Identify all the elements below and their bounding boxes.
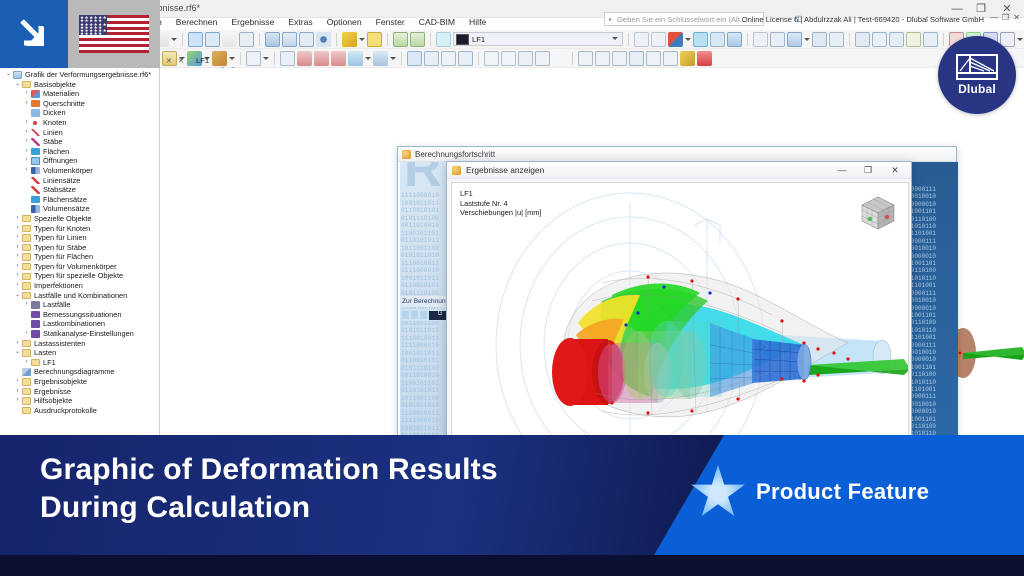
dlubal-bridge-icon bbox=[956, 54, 998, 80]
result-diagram-icon[interactable] bbox=[393, 32, 408, 47]
folder-icon bbox=[22, 263, 31, 271]
tree-item-label: Typen für Knoten bbox=[34, 224, 93, 234]
equal-icon[interactable] bbox=[646, 51, 661, 66]
panel-icon[interactable] bbox=[239, 32, 254, 47]
menu-item-hilfe[interactable]: Hilfe bbox=[462, 16, 493, 28]
folder-icon bbox=[22, 81, 31, 89]
results-legend: LF1 Laststufe Nr. 4 Verschiebungen |u| [… bbox=[460, 189, 541, 218]
lc-icon bbox=[31, 311, 40, 319]
language-flag-badge: ★★★★★★★★★★★★★★★★★★★★★★★★★★★★★★★★★ bbox=[68, 0, 160, 68]
toolbar-separator bbox=[572, 52, 573, 65]
expander-icon[interactable]: › bbox=[13, 243, 22, 253]
results-close-button[interactable]: ✕ bbox=[882, 163, 908, 178]
search-model-icon[interactable] bbox=[872, 32, 887, 47]
folder-icon bbox=[22, 244, 31, 252]
tree-item[interactable]: Stabsätze bbox=[0, 185, 159, 195]
mdi-maximize-button[interactable]: ❐ bbox=[1002, 13, 1009, 22]
expander-icon[interactable]: › bbox=[13, 387, 22, 397]
tree-item[interactable]: ›Hilfsobjekte bbox=[0, 396, 159, 406]
tree-item-label: Lasten bbox=[34, 348, 59, 358]
tree-item[interactable]: ›Lastfälle bbox=[0, 300, 159, 310]
lset-icon bbox=[31, 186, 40, 194]
snap-icon[interactable] bbox=[753, 32, 768, 47]
tree-item-label: Grafik der Verformungsergebnisse.rf6* bbox=[25, 70, 154, 80]
support-surface-icon[interactable] bbox=[331, 51, 346, 66]
folder-icon bbox=[22, 225, 31, 233]
tree-item[interactable]: ›Flächen bbox=[0, 147, 159, 157]
lc-icon bbox=[31, 330, 40, 338]
mdi-close-button[interactable]: ✕ bbox=[1013, 13, 1020, 22]
dlubal-logo: Dlubal bbox=[938, 36, 1016, 114]
tree-item[interactable]: ›Typen für Knoten bbox=[0, 224, 159, 234]
load-case-color-icon bbox=[456, 34, 469, 45]
menu-item-cad-bim[interactable]: CAD-BIM bbox=[412, 16, 462, 28]
tree-item[interactable]: ›Typen für Linien bbox=[0, 233, 159, 243]
bottom-banner: Graphic of Deformation Results During Ca… bbox=[0, 435, 1024, 576]
tree-item[interactable]: ›Spezielle Objekte bbox=[0, 214, 159, 224]
expander-icon[interactable]: › bbox=[13, 377, 22, 387]
banner-bottom-bar bbox=[0, 555, 1024, 576]
loads-dropdown-icon[interactable] bbox=[359, 32, 365, 47]
surface-icon bbox=[31, 148, 40, 156]
tree-item-label: Stabsätze bbox=[43, 185, 79, 195]
expander-icon[interactable]: › bbox=[13, 271, 22, 281]
member-icon bbox=[31, 138, 40, 146]
tree-item-label: Lastassistenten bbox=[34, 339, 88, 349]
angle-measure-icon[interactable] bbox=[663, 51, 678, 66]
tree-item[interactable]: ›Statikanalyse-Einstellungen bbox=[0, 329, 159, 339]
view-cube-icon[interactable] bbox=[854, 191, 898, 233]
toolbar-separator bbox=[182, 33, 183, 46]
expander-icon[interactable]: › bbox=[22, 147, 31, 157]
search-caret-icon: ▸ bbox=[609, 16, 612, 23]
folder-icon bbox=[31, 359, 40, 367]
mirror-icon[interactable] bbox=[441, 51, 456, 66]
tree-item-label: Typen für spezielle Objekte bbox=[34, 271, 126, 281]
tree-item[interactable]: Bemessungssituationen bbox=[0, 310, 159, 320]
array-icon[interactable] bbox=[458, 51, 473, 66]
load-nodal-icon[interactable] bbox=[373, 51, 388, 66]
member-create-icon[interactable] bbox=[212, 51, 227, 66]
axis-all-icon[interactable] bbox=[1000, 32, 1015, 47]
search-placeholder: Geben Sie ein Schlüsselwort ein (Alt... bbox=[617, 15, 746, 24]
expander-icon[interactable]: ⌄ bbox=[13, 291, 22, 301]
load-case-select[interactable]: LF1 bbox=[453, 32, 623, 46]
tree-item[interactable]: ⌄Basisobjekte bbox=[0, 80, 159, 90]
lcase-icon bbox=[31, 301, 40, 309]
tree-item[interactable]: ›Volumenkörper bbox=[0, 166, 159, 176]
loads-icon[interactable] bbox=[342, 32, 357, 47]
toolbar-separator bbox=[401, 52, 402, 65]
next-case-icon[interactable] bbox=[651, 32, 666, 47]
strip-square bbox=[420, 311, 427, 319]
tree-item-label: Spezielle Objekte bbox=[34, 214, 95, 224]
tree-item-label: Ausdruckprotokolle bbox=[34, 406, 100, 416]
render-icon[interactable] bbox=[265, 32, 280, 47]
rotate-icon[interactable] bbox=[693, 32, 708, 47]
tree-item[interactable]: ›Ergebnisse bbox=[0, 387, 159, 397]
node-icon bbox=[33, 121, 37, 125]
edit-icon[interactable] bbox=[906, 32, 921, 47]
marker-icon[interactable] bbox=[697, 51, 712, 66]
table-icon[interactable] bbox=[282, 32, 297, 47]
doc-icon bbox=[13, 71, 22, 79]
toolbar-separator bbox=[478, 52, 479, 65]
tree-item[interactable]: ›Typen für Flächen bbox=[0, 252, 159, 262]
expander-icon[interactable]: › bbox=[22, 156, 31, 166]
prev-case-icon[interactable] bbox=[634, 32, 649, 47]
graphics-workarea[interactable]: Berechnungsfortschritt R 111100001010010… bbox=[160, 68, 1024, 436]
panel-load-case-label: LF1 bbox=[196, 56, 209, 65]
menu-item-berechnen[interactable]: Berechnen bbox=[169, 16, 225, 28]
tree-item[interactable]: ›Linien bbox=[0, 128, 159, 138]
menu-item-extras[interactable]: Extras bbox=[281, 16, 319, 28]
project-navigator[interactable]: RFEM ⌄Grafik der Verformungsergebnisse.r… bbox=[0, 56, 160, 436]
member-dropdown-icon[interactable] bbox=[229, 51, 235, 66]
tree-item-label: Stäbe bbox=[43, 137, 65, 147]
hinge-dropdown-icon[interactable] bbox=[365, 51, 371, 66]
screenshot-root: ...bnisse.rf6* — ❐ ✕ n Berechnen Ergebni… bbox=[0, 0, 1024, 576]
result-section-icon[interactable] bbox=[410, 32, 425, 47]
rfem-letter-mark: R bbox=[404, 166, 442, 174]
tree-item-label: Typen für Volumenkörper bbox=[34, 262, 120, 272]
toolbar-separator bbox=[259, 33, 260, 46]
navigator-icon[interactable] bbox=[316, 32, 331, 47]
calc-dialog-title: Berechnungsfortschritt bbox=[415, 150, 495, 159]
folder-icon bbox=[22, 397, 31, 405]
chevron-down-icon[interactable] bbox=[612, 37, 618, 40]
toolbar-separator bbox=[747, 33, 748, 46]
link-icon[interactable] bbox=[923, 32, 938, 47]
mesh-refine-icon[interactable] bbox=[407, 51, 422, 66]
folder-icon bbox=[22, 253, 31, 261]
tree-item[interactable]: Liniensätze bbox=[0, 176, 159, 186]
toolbar-separator bbox=[240, 52, 241, 65]
tree-item-label: Bemessungssituationen bbox=[43, 310, 124, 320]
expander-icon[interactable]: › bbox=[13, 339, 22, 349]
dimension-icon[interactable] bbox=[222, 32, 237, 47]
align-right-icon[interactable] bbox=[612, 51, 627, 66]
results-maximize-button[interactable]: ❐ bbox=[855, 163, 881, 178]
folder-icon bbox=[22, 378, 31, 386]
print-icon[interactable] bbox=[855, 32, 870, 47]
search-input[interactable]: ▸ Geben Sie ein Schlüsselwort ein (Alt..… bbox=[604, 12, 764, 26]
expander-icon[interactable]: › bbox=[22, 99, 31, 109]
dia-icon bbox=[22, 368, 31, 376]
tree-item[interactable]: ›Knoten bbox=[0, 118, 159, 128]
toolbar-separator bbox=[387, 33, 388, 46]
panel-close-icon[interactable]: ✕ bbox=[178, 57, 184, 65]
folder-icon bbox=[22, 234, 31, 242]
tree-item-label: Hilfsobjekte bbox=[34, 396, 75, 406]
expander-icon[interactable]: › bbox=[22, 329, 31, 339]
tree-item[interactable]: ›Lastassistenten bbox=[0, 339, 159, 349]
lc-icon bbox=[31, 320, 40, 328]
slash-icon[interactable] bbox=[552, 51, 567, 66]
deformation-icon[interactable] bbox=[727, 32, 742, 47]
tree-item[interactable]: Berechnungsdiagramme bbox=[0, 367, 159, 377]
support-dropdown-icon[interactable] bbox=[685, 32, 691, 47]
expander-icon[interactable]: › bbox=[22, 166, 31, 176]
layer-icon[interactable] bbox=[770, 32, 785, 47]
tree-item-label: Querschnitte bbox=[43, 99, 88, 109]
lset-icon bbox=[31, 177, 40, 185]
angle-icon[interactable] bbox=[484, 51, 499, 66]
tree-item[interactable]: ⌄Lastfälle und Kombinationen bbox=[0, 291, 159, 301]
results-3d-canvas[interactable]: LF1 Laststufe Nr. 4 Verschiebungen |u| [… bbox=[451, 182, 909, 436]
tree-item-label: Knoten bbox=[43, 118, 69, 128]
legend-load-case: LF1 bbox=[460, 189, 541, 199]
report-icon[interactable] bbox=[299, 32, 314, 47]
strip-square bbox=[411, 311, 418, 319]
expander-icon[interactable]: › bbox=[13, 233, 22, 243]
tree-item-label: Öffnungen bbox=[43, 156, 80, 166]
navigator-tree[interactable]: ⌄Grafik der Verformungsergebnisse.rf6*⌄B… bbox=[0, 69, 159, 415]
results-minimize-button[interactable]: — bbox=[829, 163, 855, 178]
expander-icon[interactable]: ⌄ bbox=[4, 70, 13, 80]
tree-item[interactable]: ›LF1 bbox=[0, 358, 159, 368]
tree-item[interactable]: ›Imperfektionen bbox=[0, 281, 159, 291]
load-dropdown-icon[interactable] bbox=[390, 51, 396, 66]
dialog-app-icon bbox=[452, 166, 461, 175]
tree-item[interactable]: ⌄Grafik der Verformungsergebnisse.rf6* bbox=[0, 70, 159, 80]
toolbar-separator bbox=[943, 33, 944, 46]
tree-item-label: Liniensätze bbox=[43, 176, 83, 186]
tree-item-label: Lastfälle bbox=[43, 300, 74, 310]
panel-pin-icon[interactable]: ✕ bbox=[166, 57, 172, 65]
tree-item[interactable]: ›Querschnitte bbox=[0, 99, 159, 109]
color-swatch-icon[interactable] bbox=[436, 32, 451, 47]
expander-icon[interactable]: › bbox=[22, 89, 31, 99]
tree-item-label: Materialien bbox=[43, 89, 82, 99]
tree-item-label: Statikanalyse-Einstellungen bbox=[43, 329, 137, 339]
toolbar-separator bbox=[274, 52, 275, 65]
expander-icon[interactable]: › bbox=[22, 128, 31, 138]
view-single-icon[interactable] bbox=[188, 32, 203, 47]
tree-item[interactable]: ›Typen für spezielle Objekte bbox=[0, 271, 159, 281]
mesh-icon[interactable] bbox=[710, 32, 725, 47]
tree-item-label: Imperfektionen bbox=[34, 281, 86, 291]
toolbar-separator bbox=[628, 33, 629, 46]
dlubal-wordmark: Dlubal bbox=[958, 82, 996, 96]
expander-icon[interactable]: › bbox=[22, 118, 31, 128]
banner-title-line1: Graphic of Deformation Results bbox=[40, 451, 498, 489]
deformation-model bbox=[452, 183, 909, 436]
calc-dialog-titlebar[interactable]: Berechnungsfortschritt bbox=[398, 147, 956, 162]
tree-item[interactable]: ›Materialien bbox=[0, 89, 159, 99]
tree-item-label: Basisobjekte bbox=[34, 80, 79, 90]
arrow-down-right-icon bbox=[14, 14, 54, 54]
tree-item[interactable]: ›Öffnungen bbox=[0, 156, 159, 166]
solid-create-icon[interactable] bbox=[280, 51, 295, 66]
expander-icon[interactable]: ⌄ bbox=[13, 80, 22, 90]
tree-item-label: Flächensätze bbox=[43, 195, 90, 205]
toolbar-separator bbox=[430, 33, 431, 46]
tree-item[interactable]: Volumensätze bbox=[0, 204, 159, 214]
expander-icon[interactable]: › bbox=[13, 214, 22, 224]
menu-item-ergebnisse[interactable]: Ergebnisse bbox=[224, 16, 281, 28]
support-nodal-icon[interactable] bbox=[297, 51, 312, 66]
solid-icon bbox=[31, 167, 40, 175]
tree-item-label: Typen für Linien bbox=[34, 233, 90, 243]
view-tiled-icon[interactable] bbox=[205, 32, 220, 47]
folder-icon bbox=[22, 273, 31, 281]
measure-icon[interactable] bbox=[829, 32, 844, 47]
tree-item-label: Typen für Flächen bbox=[34, 252, 96, 262]
tree-item[interactable]: ›Typen für Volumenkörper bbox=[0, 262, 159, 272]
circle-icon[interactable] bbox=[518, 51, 533, 66]
license-status: Online License 6 | Abdulrzzak Ali | Test… bbox=[742, 12, 984, 26]
expander-icon[interactable]: › bbox=[13, 252, 22, 262]
tree-item[interactable]: Ausdruckprotokolle bbox=[0, 406, 159, 416]
tree-item[interactable]: Lastkombinationen bbox=[0, 319, 159, 329]
tree-item-label: Berechnungsdiagramme bbox=[34, 367, 118, 377]
expander-icon[interactable]: › bbox=[22, 358, 31, 368]
tree-item[interactable]: ›Typen für Stäbe bbox=[0, 243, 159, 253]
tree-item-label: Volumenkörper bbox=[43, 166, 96, 176]
sec-icon bbox=[31, 100, 40, 108]
surface-icon bbox=[31, 196, 40, 204]
strip-square bbox=[402, 311, 409, 319]
toolbar-secondary bbox=[150, 49, 1024, 68]
undo-dropdown-icon[interactable] bbox=[171, 32, 177, 47]
visibility-icon[interactable] bbox=[787, 32, 802, 47]
thick-icon bbox=[31, 109, 40, 117]
tree-item-label: LF1 bbox=[43, 358, 59, 368]
tree-item-label: Lastkombinationen bbox=[43, 319, 108, 329]
mdi-minimize-button[interactable]: — bbox=[990, 13, 998, 22]
copy-icon[interactable] bbox=[424, 51, 439, 66]
arc-icon[interactable] bbox=[501, 51, 516, 66]
results-dialog-titlebar[interactable]: Ergebnisse anzeigen — ❐ ✕ bbox=[447, 162, 911, 179]
folder-icon bbox=[22, 215, 31, 223]
tree-item-label: Ergebnisobjekte bbox=[34, 377, 90, 387]
tree-item-label: Volumensätze bbox=[43, 204, 92, 214]
person-icon[interactable] bbox=[812, 32, 827, 47]
toolbar-primary: LF1 bbox=[150, 30, 1024, 49]
solid-icon bbox=[31, 205, 40, 213]
results-display-dialog[interactable]: Ergebnisse anzeigen — ❐ ✕ bbox=[446, 161, 912, 436]
support-icon[interactable] bbox=[668, 32, 683, 47]
toolbar-separator bbox=[849, 33, 850, 46]
visibility-dropdown-icon[interactable] bbox=[804, 32, 810, 47]
expander-icon[interactable]: › bbox=[13, 224, 22, 234]
hinge-icon[interactable] bbox=[348, 51, 363, 66]
flag-canton: ★★★★★★★★★★★★★★★★★★★★★★★★★★★★★★★★★ bbox=[79, 15, 107, 35]
expander-icon[interactable]: › bbox=[13, 281, 22, 291]
menu-item-optionen[interactable]: Optionen bbox=[320, 16, 369, 28]
tree-item-label: Lastfälle und Kombinationen bbox=[34, 291, 130, 301]
tree-item-label: Typen für Stäbe bbox=[34, 243, 89, 253]
menu-item-fenster[interactable]: Fenster bbox=[369, 16, 412, 28]
open-icon bbox=[31, 157, 40, 165]
folder-icon bbox=[22, 349, 31, 357]
expander-icon[interactable]: ⌄ bbox=[13, 348, 22, 358]
dialog-app-icon bbox=[402, 150, 411, 159]
align-left-icon[interactable] bbox=[578, 51, 593, 66]
grid-icon[interactable] bbox=[367, 32, 382, 47]
banner-title: Graphic of Deformation Results During Ca… bbox=[40, 451, 498, 527]
menu-bar: n Berechnen Ergebnisse Extras Optionen F… bbox=[150, 14, 493, 30]
folder-icon bbox=[22, 292, 31, 300]
line-icon bbox=[31, 129, 40, 137]
us-flag-icon: ★★★★★★★★★★★★★★★★★★★★★★★★★★★★★★★★★ bbox=[79, 15, 149, 53]
expander-icon[interactable]: › bbox=[13, 396, 22, 406]
tree-item[interactable]: Flächensätze bbox=[0, 195, 159, 205]
banner-feature-label: Product Feature bbox=[756, 479, 929, 505]
tree-item-label: Flächen bbox=[43, 147, 72, 157]
support-line-icon[interactable] bbox=[314, 51, 329, 66]
load-case-value: LF1 bbox=[472, 35, 485, 44]
tree-item-label: Linien bbox=[43, 128, 66, 138]
banner-title-line2: During Calculation bbox=[40, 489, 498, 527]
folder-icon bbox=[22, 340, 31, 348]
folder-icon bbox=[22, 388, 31, 396]
paint-icon[interactable] bbox=[680, 51, 695, 66]
folder-icon bbox=[22, 282, 31, 290]
folder-icon bbox=[22, 407, 31, 415]
expander-icon[interactable]: › bbox=[13, 262, 22, 272]
align-center-icon[interactable] bbox=[595, 51, 610, 66]
expander-icon[interactable]: › bbox=[22, 300, 31, 310]
results-dialog-title: Ergebnisse anzeigen bbox=[466, 165, 544, 175]
tree-item[interactable]: ›Ergebnisobjekte bbox=[0, 377, 159, 387]
tree-item[interactable]: ⌄Lasten bbox=[0, 348, 159, 358]
arrow-badge bbox=[0, 0, 68, 68]
legend-load-step: Laststufe Nr. 4 bbox=[460, 199, 541, 209]
tree-item-label: Dicken bbox=[43, 108, 69, 118]
toolbar-separator bbox=[336, 33, 337, 46]
mat-icon bbox=[31, 90, 40, 98]
flag-stripe bbox=[79, 50, 149, 53]
expander-icon[interactable]: › bbox=[22, 137, 31, 147]
axis-dropdown-icon[interactable] bbox=[1017, 32, 1023, 47]
scale-icon[interactable] bbox=[535, 51, 550, 66]
surface-dropdown-icon[interactable] bbox=[263, 51, 269, 66]
tree-item-label: Ergebnisse bbox=[34, 387, 74, 397]
tree-item[interactable]: Dicken bbox=[0, 108, 159, 118]
solid-view-icon[interactable] bbox=[889, 32, 904, 47]
tree-item[interactable]: ›Stäbe bbox=[0, 137, 159, 147]
surface-create-icon[interactable] bbox=[246, 51, 261, 66]
legend-quantity: Verschiebungen |u| [mm] bbox=[460, 208, 541, 218]
distribute-icon[interactable] bbox=[629, 51, 644, 66]
